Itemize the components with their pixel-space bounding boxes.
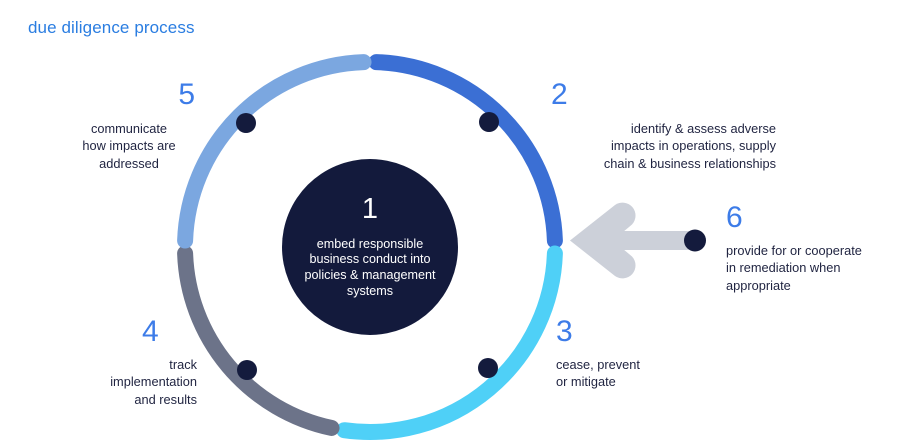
- step-text-6: provide for or cooperate in remediation …: [726, 242, 891, 294]
- step-label-4: 4 track implementation and results: [58, 317, 197, 408]
- step-text-4: track implementation and results: [58, 356, 197, 408]
- step-number-4: 4: [142, 317, 197, 347]
- step-label-5: 5 communicate how impacts are addressed: [55, 80, 203, 172]
- diagram-canvas: due diligence process 1 embed responsibl…: [0, 0, 904, 446]
- center-step-number: 1: [362, 195, 378, 224]
- step-number-6: 6: [726, 203, 891, 233]
- ring-dot-step-4: [237, 360, 257, 380]
- step-text-5: communicate how impacts are addressed: [55, 120, 203, 172]
- step-label-6: 6 provide for or cooperate in remediatio…: [726, 203, 891, 294]
- center-step-text: embed responsible business conduct into …: [305, 237, 436, 299]
- step-label-2: 2 identify & assess adverse impacts in o…: [551, 80, 776, 172]
- arrow-tail-dot: [684, 230, 706, 252]
- step-text-3: cease, prevent or mitigate: [556, 356, 746, 391]
- step-number-5: 5: [55, 80, 195, 110]
- ring-dot-step-2: [479, 112, 499, 132]
- step-label-3: 3 cease, prevent or mitigate: [556, 317, 746, 391]
- step-text-2: identify & assess adverse impacts in ope…: [551, 120, 776, 172]
- arrow-group: [570, 203, 706, 279]
- step-number-3: 3: [556, 317, 746, 347]
- ring-dot-step-5: [236, 113, 256, 133]
- center-circle-step-1: 1 embed responsible business conduct int…: [282, 159, 458, 335]
- ring-dot-step-3: [478, 358, 498, 378]
- step-number-2: 2: [551, 80, 776, 110]
